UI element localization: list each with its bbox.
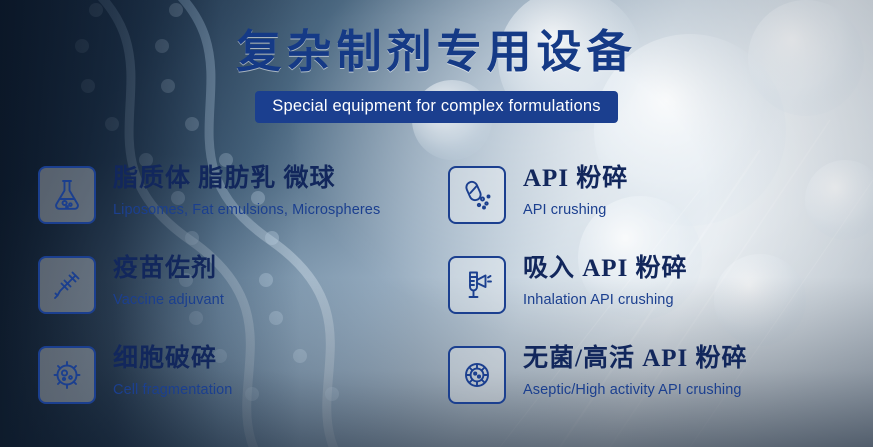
list-item-label-cn: 疫苗佐剂 [113,254,224,285]
list-item-aseptic-api-crushing[interactable]: 无菌/高活 API 粉碎 Aseptic/High activity API c… [448,343,838,433]
subtitle-badge: Special equipment for complex formulatio… [255,91,617,123]
poster-header: 复杂制剂专用设备 Special equipment for complex f… [0,24,873,123]
syringe-icon [38,256,96,314]
list-item-vaccine-adjuvant[interactable]: 疫苗佐剂 Vaccine adjuvant [38,253,448,343]
list-item-label-cn: 吸入 API 粉碎 [523,254,688,285]
list-item-api-crushing[interactable]: API 粉碎 API crushing [448,163,838,253]
list-item-label-cn: 脂质体 脂肪乳 微球 [113,164,380,195]
inhaler-icon [448,256,506,314]
list-item-cell-fragmentation[interactable]: 细胞破碎 Cell fragmentation [38,343,448,433]
list-item-label-en: API crushing [523,202,628,218]
list-item-inhalation-api-crushing[interactable]: 吸入 API 粉碎 Inhalation API crushing [448,253,838,343]
list-item-label-cn: 无菌/高活 API 粉碎 [523,344,748,375]
list-item-liposomes[interactable]: 脂质体 脂肪乳 微球 Liposomes, Fat emulsions, Mic… [38,163,448,253]
list-item-texts: 疫苗佐剂 Vaccine adjuvant [113,253,224,308]
list-item-label-en: Cell fragmentation [113,382,232,398]
list-item-texts: API 粉碎 API crushing [523,163,628,218]
list-item-texts: 脂质体 脂肪乳 微球 Liposomes, Fat emulsions, Mic… [113,163,380,218]
capsule-particles-icon [448,166,506,224]
virus-shield-icon [448,346,506,404]
list-item-label-cn: API 粉碎 [523,164,628,195]
list-item-label-en: Liposomes, Fat emulsions, Microspheres [113,202,380,218]
page-title: 复杂制剂专用设备 [0,24,873,80]
cell-icon [38,346,96,404]
list-item-texts: 细胞破碎 Cell fragmentation [113,343,232,398]
page-subtitle: Special equipment for complex formulatio… [272,97,600,115]
list-item-label-en: Vaccine adjuvant [113,292,224,308]
flask-icon [38,166,96,224]
list-item-texts: 吸入 API 粉碎 Inhalation API crushing [523,253,688,308]
list-item-label-en: Aseptic/High activity API crushing [523,382,748,398]
list-item-label-cn: 细胞破碎 [113,344,232,375]
equipment-grid: 脂质体 脂肪乳 微球 Liposomes, Fat emulsions, Mic… [38,163,838,433]
list-item-texts: 无菌/高活 API 粉碎 Aseptic/High activity API c… [523,343,748,398]
poster-root: 复杂制剂专用设备 Special equipment for complex f… [0,0,873,447]
list-item-label-en: Inhalation API crushing [523,292,688,308]
